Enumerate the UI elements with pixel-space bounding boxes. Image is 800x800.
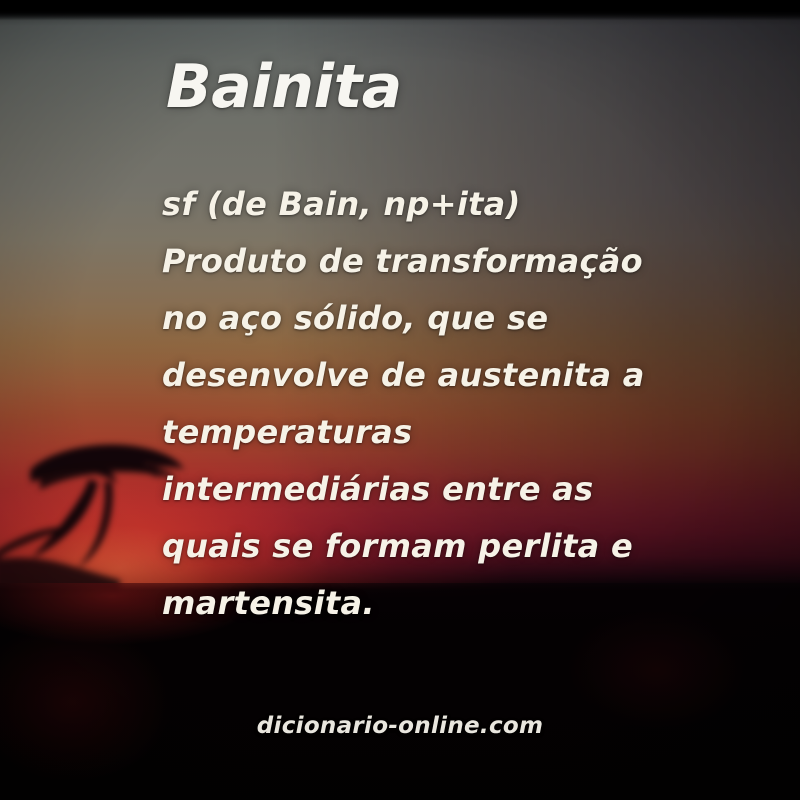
definition-line: Produto de transformação [162, 233, 722, 290]
definition-line: intermediárias entre as [162, 461, 722, 518]
definition-line: quais se formam perlita e [162, 518, 722, 575]
dictionary-image-card: Bainita sf (de Bain, np+ita) Produto de … [0, 0, 800, 800]
source-watermark: dicionario-online.com [0, 713, 800, 739]
definition-line: martensita. [162, 575, 722, 632]
definition-line: sf (de Bain, np+ita) [162, 176, 722, 233]
definition-line: desenvolve de austenita a [162, 347, 722, 404]
definition-line: temperaturas [162, 404, 722, 461]
definition-line: no aço sólido, que se [162, 290, 722, 347]
definition-text: sf (de Bain, np+ita) Produto de transfor… [162, 176, 722, 632]
page-title: Bainita [166, 57, 402, 117]
